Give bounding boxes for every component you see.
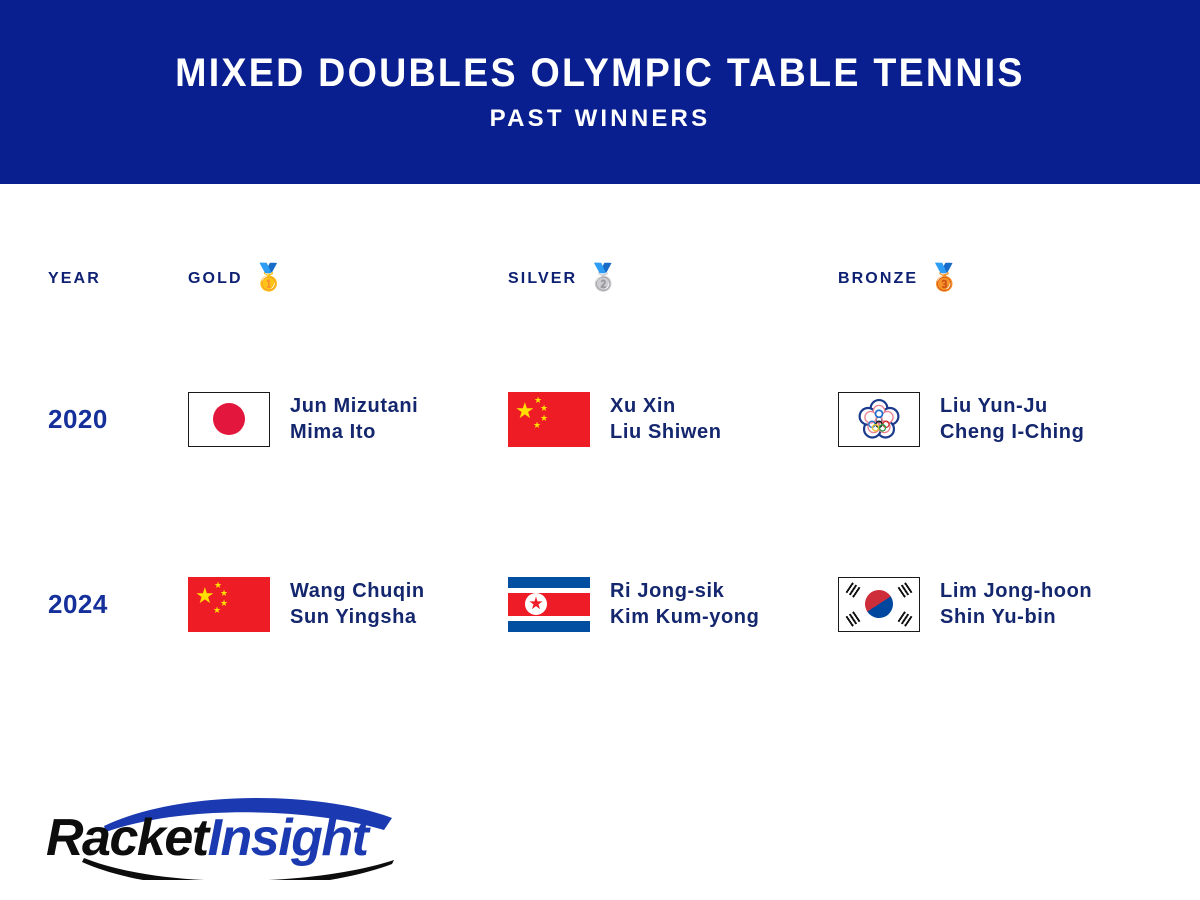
logo-wordmark: RacketInsight	[46, 812, 367, 864]
gold-winner-cell: Jun Mizutani Mima Ito	[188, 392, 508, 447]
column-header-bronze-label: BRONZE	[838, 270, 918, 288]
south-korea-flag-trigram	[897, 611, 912, 627]
chinese-taipei-flag-icon	[838, 392, 920, 447]
column-header-silver-label: SILVER	[508, 270, 577, 288]
china-flag-small-star: ★	[533, 421, 541, 430]
north-korea-flag-stripe	[508, 616, 590, 621]
column-header-gold-label: GOLD	[188, 270, 243, 288]
winner-name-1: Liu Yun-Ju	[940, 393, 1084, 419]
china-flag-icon: ★ ★ ★ ★ ★	[188, 577, 270, 632]
winner-name-2: Mima Ito	[290, 419, 418, 445]
column-header-gold: GOLD 🥇	[188, 266, 508, 292]
gold-winner-cell: ★ ★ ★ ★ ★ Wang Chuqin Sun Yingsha	[188, 577, 508, 632]
winner-name-1: Ri Jong-sik	[610, 578, 759, 604]
south-korea-flag-taeguk	[860, 585, 899, 624]
column-header-silver: SILVER 🥈	[508, 266, 838, 292]
silver-winner-names: Ri Jong-sik Kim Kum-yong	[610, 578, 759, 630]
china-flag-big-star: ★	[195, 585, 215, 607]
row-year: 2020	[48, 404, 188, 435]
winner-name-2: Sun Yingsha	[290, 604, 425, 630]
china-flag-small-star: ★	[213, 606, 221, 615]
page-title: MIXED DOUBLES OLYMPIC TABLE TENNIS	[175, 53, 1025, 93]
north-korea-flag-star-disc: ★	[525, 593, 547, 615]
china-flag-small-star: ★	[220, 589, 228, 598]
winner-name-2: Kim Kum-yong	[610, 604, 759, 630]
bronze-medal-icon: 🥉	[928, 264, 962, 290]
racket-insight-logo[interactable]: RacketInsight	[44, 790, 414, 880]
silver-winner-cell: ★ ★ ★ ★ ★ Xu Xin Liu Shiwen	[508, 392, 838, 447]
china-flag-small-star: ★	[220, 599, 228, 608]
gold-winner-names: Wang Chuqin Sun Yingsha	[290, 578, 425, 630]
gold-winner-names: Jun Mizutani Mima Ito	[290, 393, 418, 445]
winner-name-1: Jun Mizutani	[290, 393, 418, 419]
china-flag-small-star: ★	[540, 414, 548, 423]
north-korea-flag-icon: ★	[508, 577, 590, 632]
row-year: 2024	[48, 589, 188, 620]
china-flag-big-star: ★	[515, 400, 535, 422]
gold-medal-icon: 🥇	[253, 264, 287, 290]
silver-winner-cell: ★ Ri Jong-sik Kim Kum-yong	[508, 577, 838, 632]
south-korea-flag-trigram	[897, 582, 912, 598]
winner-name-1: Lim Jong-hoon	[940, 578, 1092, 604]
column-header-year: YEAR	[48, 270, 188, 288]
column-header-year-label: YEAR	[48, 270, 101, 288]
china-flag-small-star: ★	[540, 404, 548, 413]
japan-flag-icon	[188, 392, 270, 447]
south-korea-flag-trigram	[845, 611, 860, 627]
bronze-winner-names: Liu Yun-Ju Cheng I-Ching	[940, 393, 1084, 445]
south-korea-flag-trigram	[845, 582, 860, 598]
south-korea-flag-icon	[838, 577, 920, 632]
logo-text-insight: Insight	[208, 809, 368, 867]
bronze-winner-cell: Lim Jong-hoon Shin Yu-bin	[838, 577, 1168, 632]
page-subtitle: PAST WINNERS	[490, 107, 711, 131]
winner-name-2: Shin Yu-bin	[940, 604, 1092, 630]
silver-winner-names: Xu Xin Liu Shiwen	[610, 393, 722, 445]
winner-name-2: Liu Shiwen	[610, 419, 722, 445]
table-row: 2024 ★ ★ ★ ★ ★ Wang Chuqin Sun Yingsha ★	[0, 549, 1200, 659]
north-korea-flag-star: ★	[528, 595, 543, 612]
winner-name-2: Cheng I-Ching	[940, 419, 1084, 445]
winners-table: YEAR GOLD 🥇 SILVER 🥈 BRONZE 🥉 2020 Jun M…	[0, 184, 1200, 744]
page-header-band: MIXED DOUBLES OLYMPIC TABLE TENNIS PAST …	[0, 0, 1200, 184]
winner-name-1: Xu Xin	[610, 393, 722, 419]
china-flag-icon: ★ ★ ★ ★ ★	[508, 392, 590, 447]
table-header-row: YEAR GOLD 🥇 SILVER 🥈 BRONZE 🥉	[0, 266, 1200, 292]
bronze-winner-cell: Liu Yun-Ju Cheng I-Ching	[838, 392, 1168, 447]
winner-name-1: Wang Chuqin	[290, 578, 425, 604]
logo-text-racket: Racket	[46, 809, 208, 867]
table-row: 2020 Jun Mizutani Mima Ito ★ ★ ★ ★ ★ Xu …	[0, 364, 1200, 474]
japan-flag-disc	[213, 403, 245, 435]
north-korea-flag-red-band	[508, 593, 590, 616]
plum-blossom-olympic-emblem	[857, 397, 901, 441]
silver-medal-icon: 🥈	[587, 264, 621, 290]
bronze-winner-names: Lim Jong-hoon Shin Yu-bin	[940, 578, 1092, 630]
column-header-bronze: BRONZE 🥉	[838, 266, 1168, 292]
